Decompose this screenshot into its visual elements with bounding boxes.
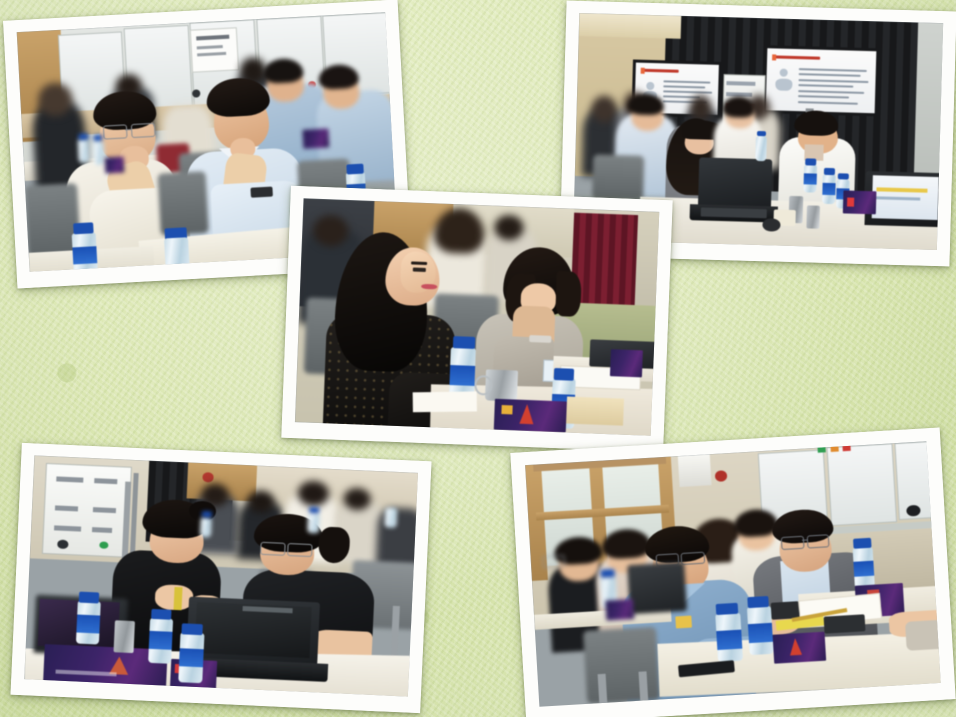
photo-collage — [0, 0, 956, 717]
photo-bottom-left[interactable] — [10, 443, 431, 713]
photo-image-center — [295, 198, 659, 436]
photo-center[interactable] — [281, 186, 672, 452]
photo-bottom-right[interactable] — [510, 427, 955, 717]
photo-image-bottom-left — [24, 455, 418, 696]
photo-image-bottom-right — [525, 441, 941, 706]
